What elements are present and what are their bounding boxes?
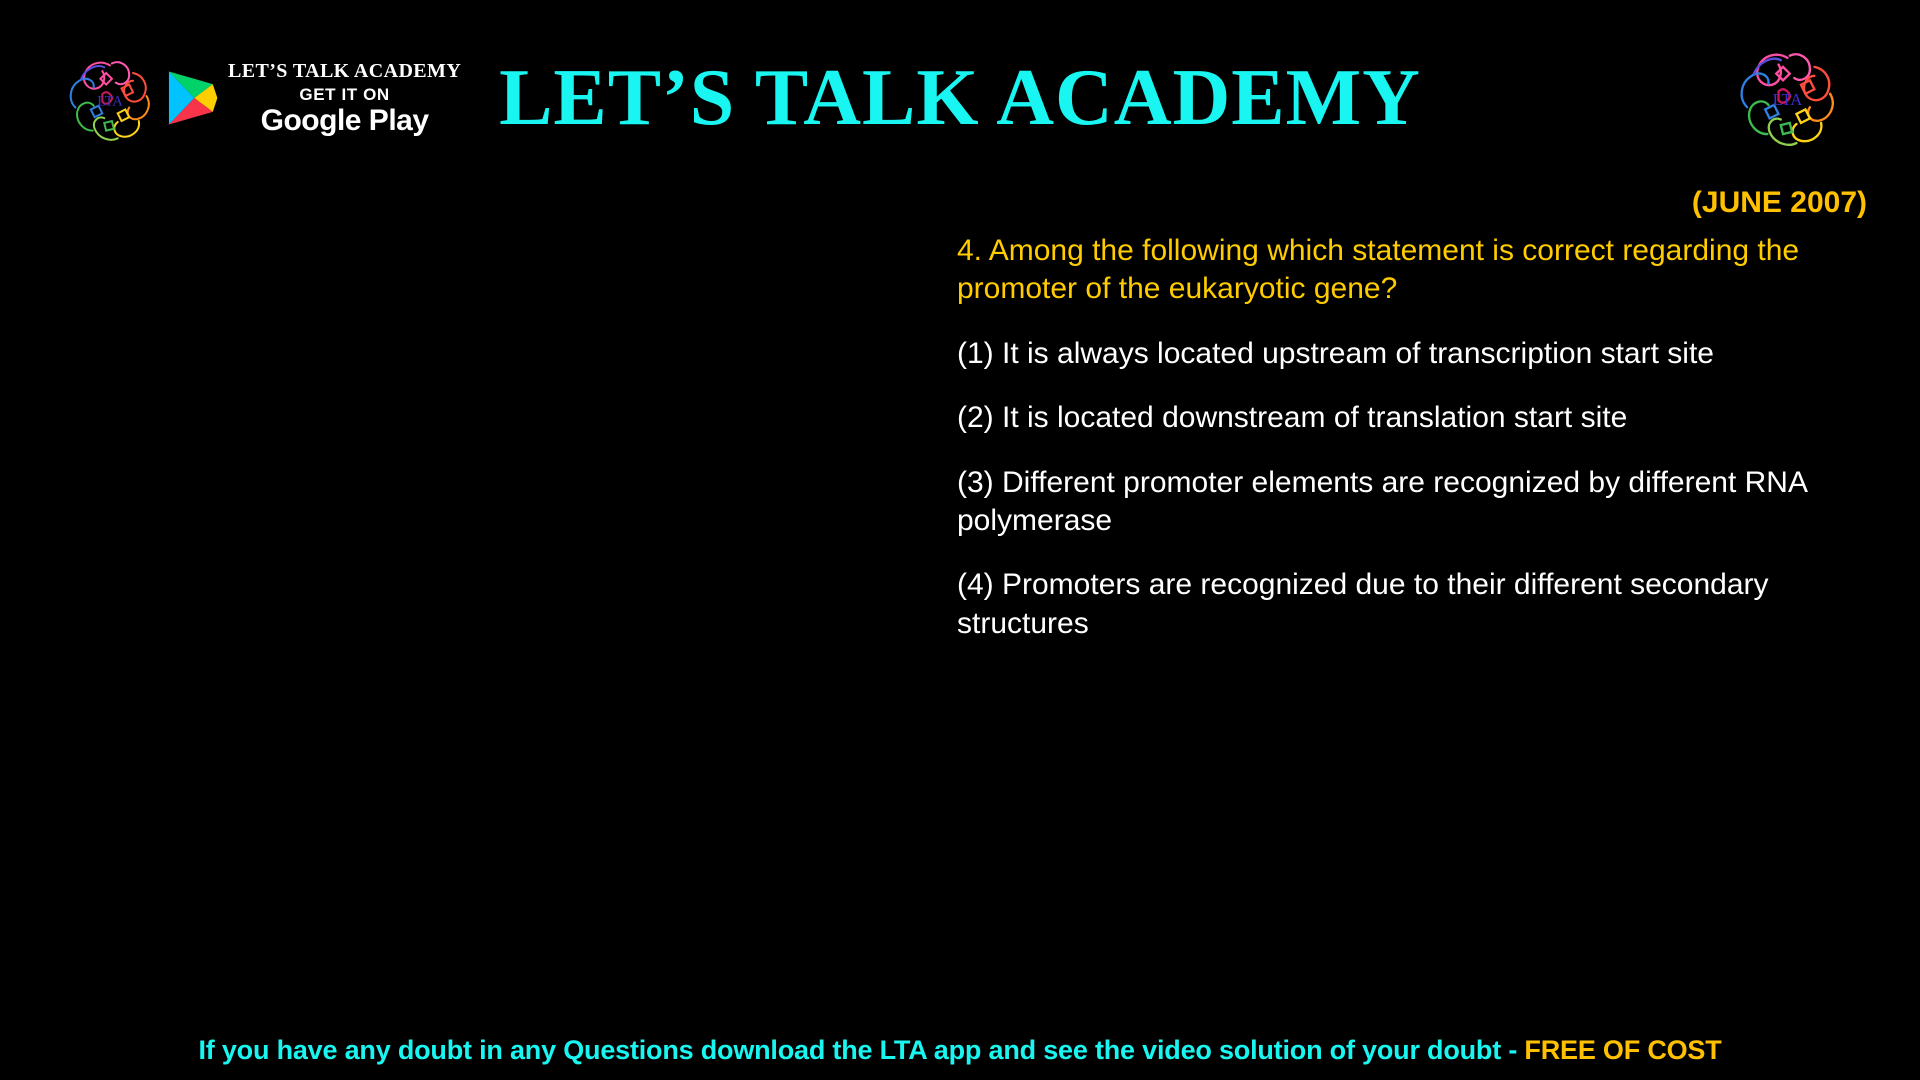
page-title: LET’S TALK ACADEMY	[0, 58, 1920, 138]
slide-root: { "colors": { "background": "#000000", "…	[0, 0, 1920, 1080]
exam-date-badge: (JUNE 2007)	[957, 188, 1869, 218]
option-4[interactable]: (4) Promoters are recognized due to thei…	[957, 566, 1869, 643]
question-panel: (JUNE 2007) 4. Among the following which…	[957, 188, 1869, 669]
brand-right-cluster: LTA	[1730, 40, 1845, 152]
option-1[interactable]: (1) It is always located upstream of tra…	[957, 335, 1869, 373]
lta-protein-ribbon-logo-right: LTA	[1730, 40, 1845, 152]
slide-header: LTA LET’S TALK ACADEMY GET IT ON Google …	[0, 0, 1920, 180]
option-2[interactable]: (2) It is located downstream of translat…	[957, 399, 1869, 437]
svg-text:LTA: LTA	[1773, 90, 1803, 109]
option-3[interactable]: (3) Different promoter elements are reco…	[957, 464, 1869, 541]
footer-banner: If you have any doubt in any Questions d…	[0, 1035, 1920, 1066]
question-text: 4. Among the following which statement i…	[957, 232, 1869, 309]
footer-message: If you have any doubt in any Questions d…	[198, 1035, 1524, 1065]
footer-highlight: FREE OF COST	[1524, 1035, 1721, 1065]
